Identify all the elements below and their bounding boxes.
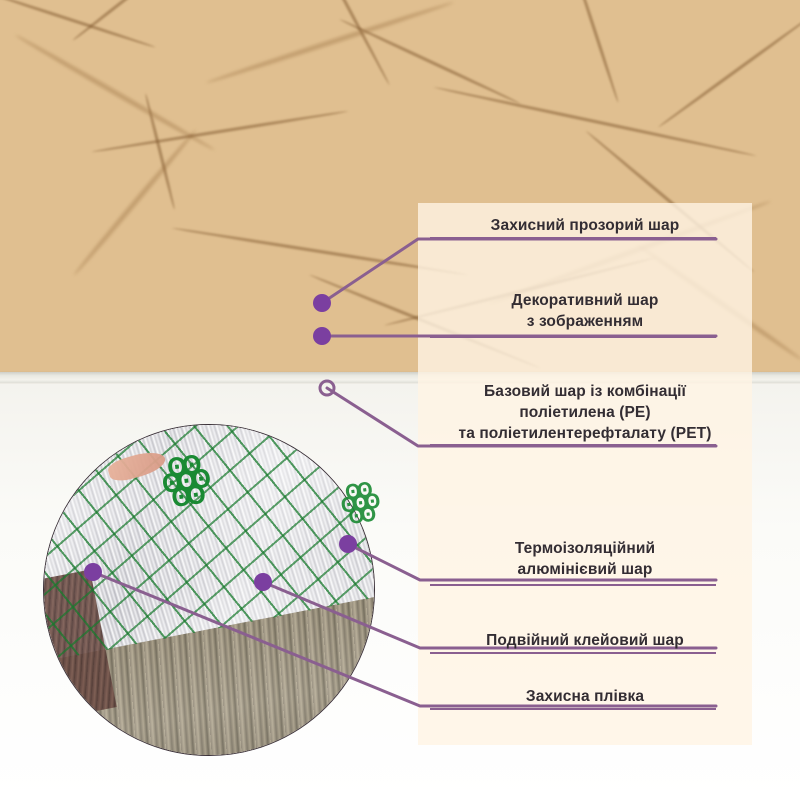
callout-underline-thermal-aluminium-layer <box>430 584 716 586</box>
callout-underline-double-adhesive-layer <box>430 652 716 654</box>
callout-label-thermal-aluminium-layer: Термоізоляційний алюмінієвий шар <box>424 538 746 580</box>
callout-underline-protective-film <box>430 708 716 710</box>
callout-underline-base-pe-pet-layer <box>430 444 716 446</box>
callout-label-decorative-image-layer: Декоративний шар з зображенням <box>424 290 746 332</box>
callout-label-protective-transparent-layer: Захисний прозорий шар <box>424 215 746 236</box>
marker-adhesive <box>254 573 272 591</box>
callout-underline-protective-transparent-layer <box>430 237 716 239</box>
callout-label-double-adhesive-layer: Подвійний клейовий шар <box>424 630 746 651</box>
callout-underline-decorative-image-layer <box>430 336 716 338</box>
marker-film <box>84 563 102 581</box>
marker-decorative <box>313 294 331 312</box>
product-layer-diagram: ꙮ ꙮ Захисний прозорий шарДекоративний ша… <box>0 0 800 800</box>
marker-base <box>313 327 331 345</box>
callout-label-protective-film: Захисна плівка <box>424 686 746 707</box>
callout-label-base-pe-pet-layer: Базовий шар із комбінації поліетилена (P… <box>424 381 746 444</box>
marker-aluminium <box>339 535 357 553</box>
